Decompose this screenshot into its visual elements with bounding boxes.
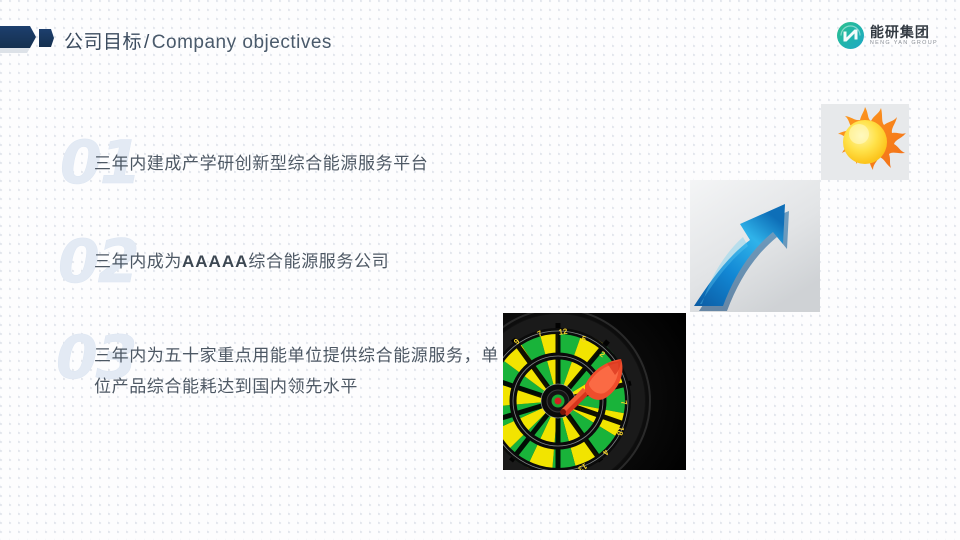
objective-item-03: 03 三年内为五十家重点用能单位提供综合能源服务，单位产品综合能耗达到国内领先水… (56, 328, 526, 448)
company-name-en: NENG YAN GROUP (870, 41, 938, 47)
objective-text-01: 三年内建成产学研创新型综合能源服务平台 (94, 148, 574, 179)
page-title-cn: 公司目标 (64, 32, 142, 53)
chevron-banner-icon (0, 22, 56, 56)
company-name-cn: 能研集团 (870, 25, 938, 39)
slide-header: 公司目标/Company objectives 能研集团 NENG YAN GR… (0, 0, 960, 78)
objective-text-02-before: 三年内成为 (94, 252, 182, 271)
company-logo: 能研集团 NENG YAN GROUP (837, 22, 938, 49)
objective-text-03: 三年内为五十家重点用能单位提供综合能源服务，单位产品综合能耗达到国内领先水平 (94, 340, 514, 402)
nengyan-circle-logo-icon (837, 22, 864, 49)
company-logo-text: 能研集团 NENG YAN GROUP (870, 25, 938, 47)
objective-item-01: 01 三年内建成产学研创新型综合能源服务平台 (60, 133, 580, 203)
page-title-en: Company objectives (152, 32, 332, 53)
upward-arrow-photo (690, 180, 820, 312)
page-title-separator: / (142, 32, 152, 53)
objective-text-02: 三年内成为AAAAA综合能源服务公司 (94, 246, 574, 277)
sun-photo (821, 104, 909, 180)
objective-item-02: 02 三年内成为AAAAA综合能源服务公司 (58, 232, 578, 302)
dartboard-photo: 9 7 12 5 2 1 7 18 4 13 (503, 313, 686, 470)
slide-canvas: 公司目标/Company objectives 能研集团 NENG YAN GR… (0, 0, 960, 540)
objective-text-02-bold: AAAAA (182, 252, 248, 271)
objective-text-02-after: 综合能源服务公司 (248, 252, 389, 271)
page-title: 公司目标/Company objectives (64, 27, 332, 54)
